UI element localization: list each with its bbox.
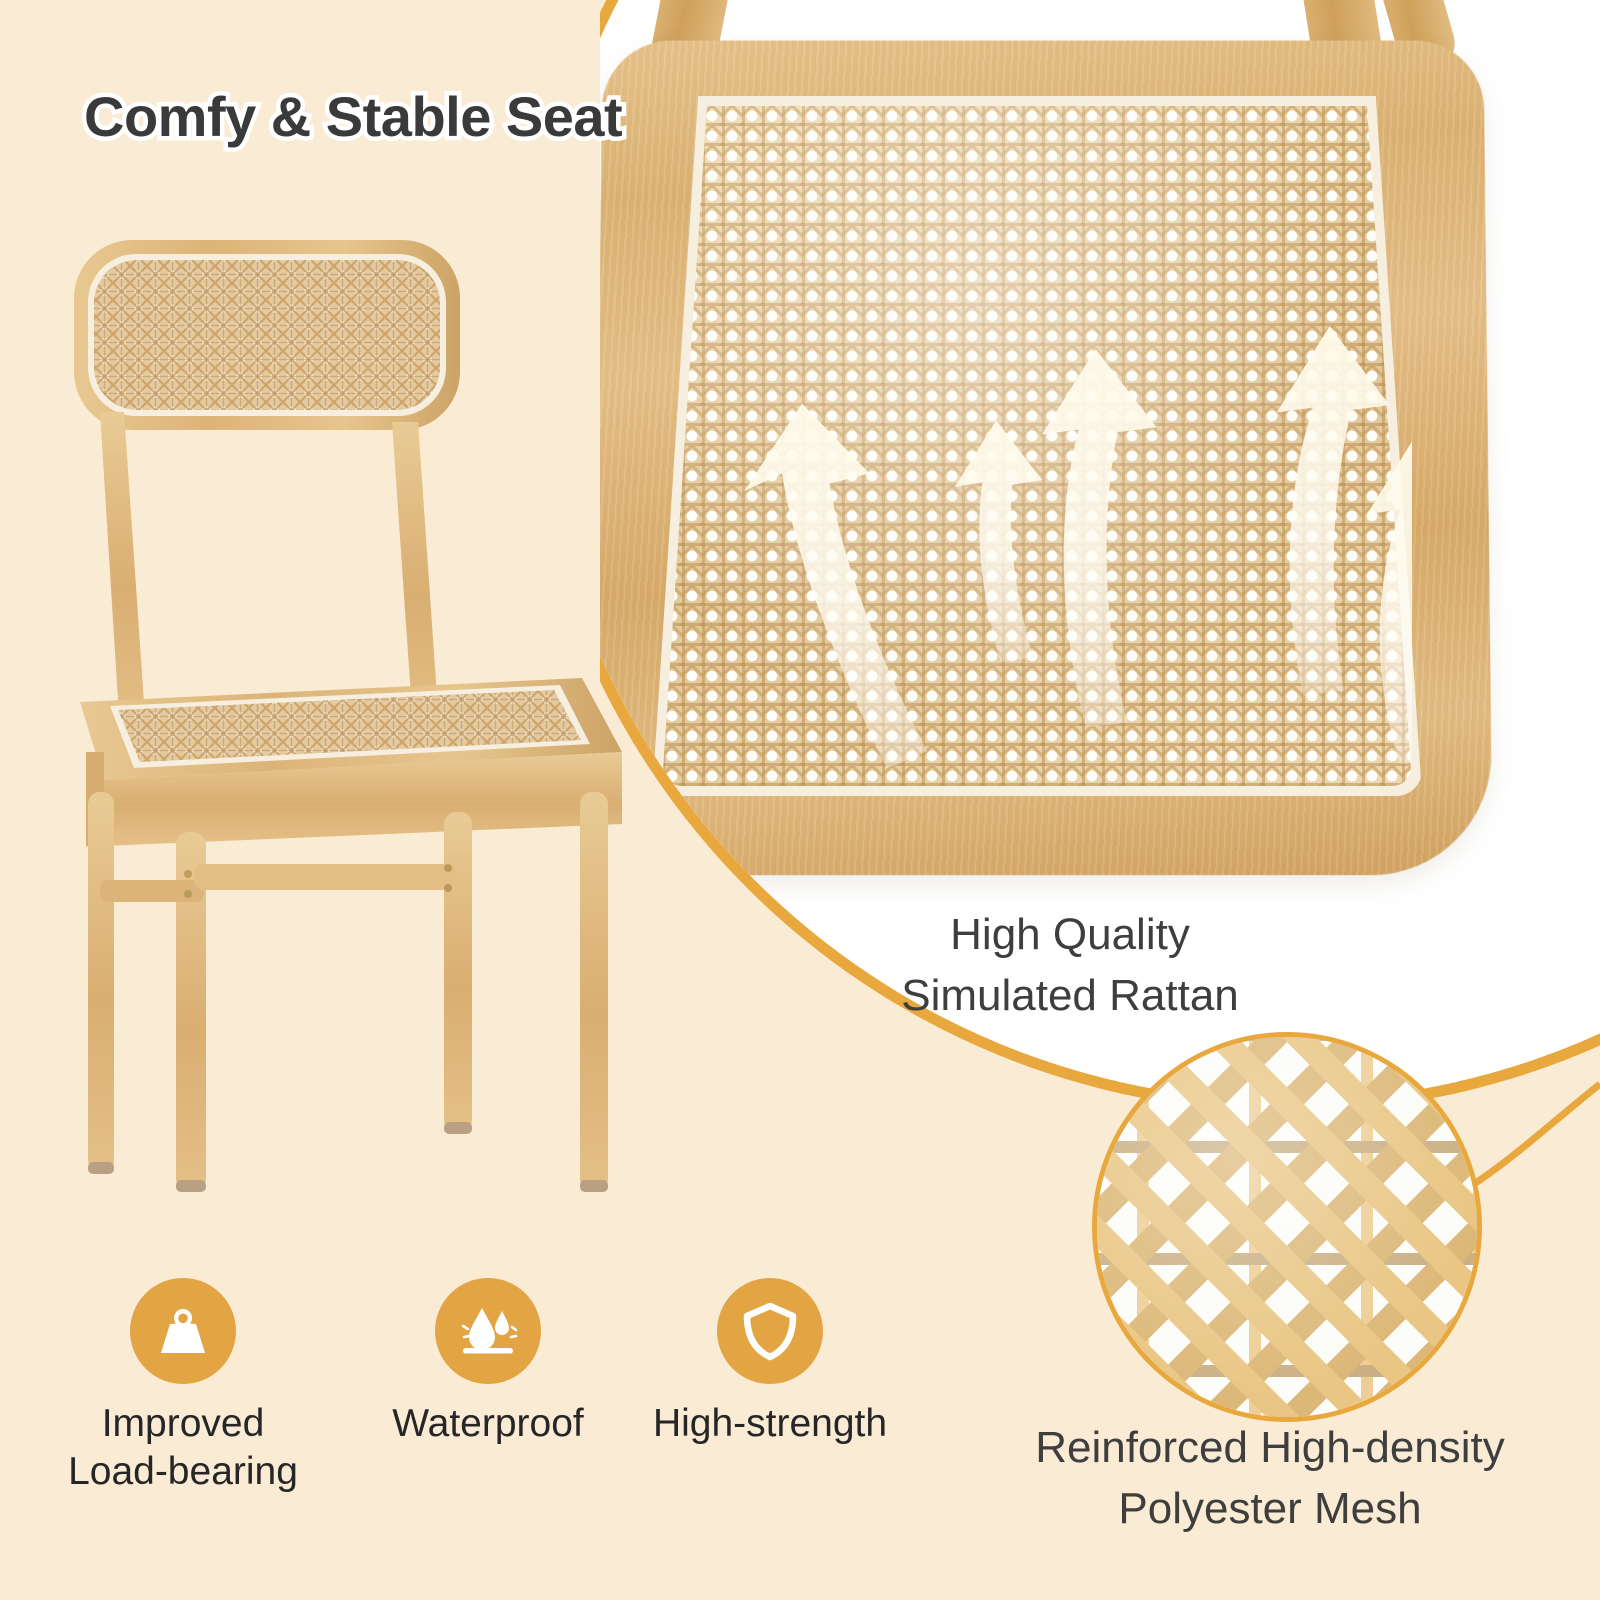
chair-foot [444, 1122, 472, 1134]
airflow-arrow [955, 420, 1042, 662]
page-title: Comfy & Stable Seat [84, 84, 622, 149]
water-drop-icon [435, 1278, 541, 1384]
weight-icon [130, 1278, 236, 1384]
lens-caption: High Quality Simulated Rattan [760, 905, 1380, 1026]
seat-closeup-photo [534, 0, 1600, 920]
callout-caption: Reinforced High-density Polyester Mesh [960, 1418, 1580, 1539]
airflow-arrows [662, 106, 1412, 786]
airflow-arrow [1042, 349, 1157, 727]
airflow-arrow [1367, 434, 1412, 764]
feature-label: High-strength [625, 1400, 915, 1448]
shield-icon [717, 1278, 823, 1384]
mesh-callout-circle [1092, 1032, 1482, 1422]
chair-leg [444, 812, 472, 1132]
feature-label: Improved Load-bearing [38, 1400, 328, 1495]
feature-item-load-bearing: Improved Load-bearing [38, 1278, 328, 1495]
feature-item-high-strength: High-strength [625, 1278, 915, 1448]
infographic-canvas: Comfy & Stable Seat High Quality Simulat… [0, 0, 1600, 1600]
chair-leg [88, 792, 114, 1172]
chair-foot [88, 1162, 114, 1174]
feature-label: Waterproof [343, 1400, 633, 1448]
feature-list: Improved Load-bearing Waterproof [58, 1278, 938, 1558]
chair-foot [580, 1180, 608, 1192]
chair-foot [176, 1180, 206, 1192]
feature-item-waterproof: Waterproof [343, 1278, 633, 1448]
chair-leg [580, 792, 608, 1192]
chair-stretcher [194, 864, 456, 890]
airflow-arrow [745, 404, 928, 769]
backrest-rattan-panel [94, 260, 440, 410]
chair-photo [62, 232, 622, 1192]
chair-back-stile [100, 412, 146, 732]
